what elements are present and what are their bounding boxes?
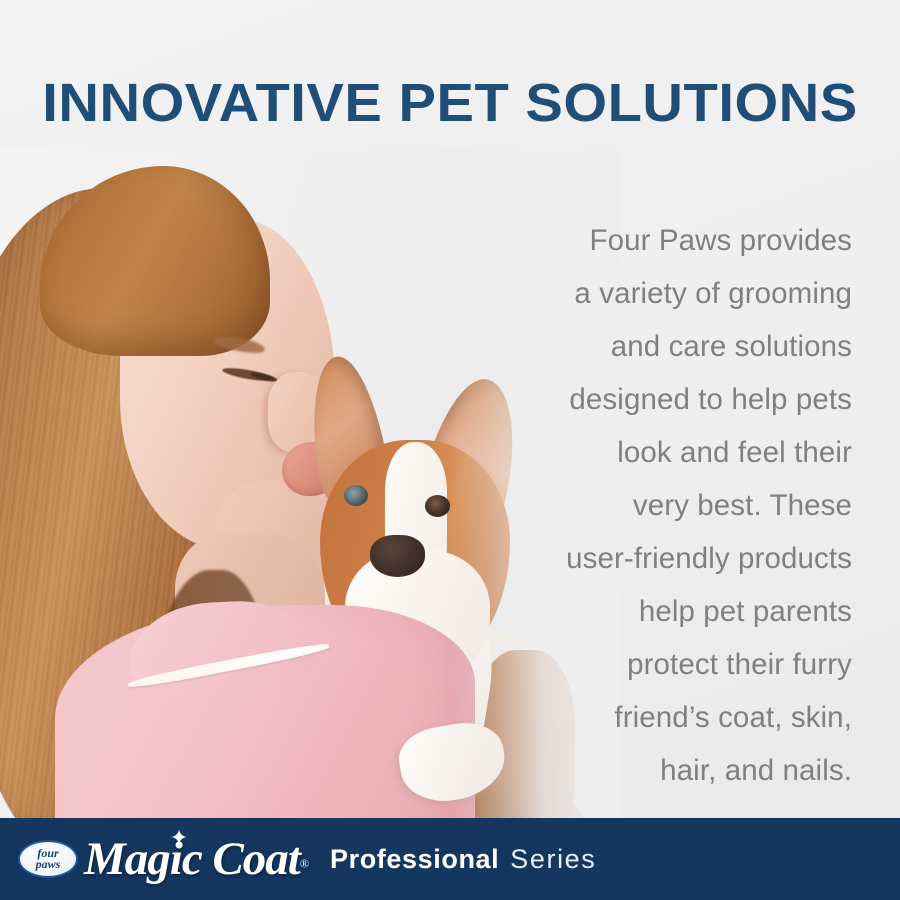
series-label: Series — [510, 844, 596, 875]
dog-eye-left — [344, 485, 368, 506]
magic-coat-wordmark-wrap: ✦ Magic Coat® — [84, 836, 308, 883]
hero-photo — [0, 150, 620, 820]
sparkle-icon: ✦ — [168, 827, 190, 849]
registered-trademark-mark: ® — [300, 856, 308, 870]
dog-nose — [370, 535, 425, 577]
body-copy: Four Paws provides a variety of grooming… — [532, 214, 852, 797]
professional-label: Professional — [330, 844, 499, 875]
page-title: INNOVATIVE PET SOLUTIONS — [0, 72, 900, 134]
four-paws-logo-line2: paws — [36, 859, 61, 870]
magic-coat-wordmark: Magic Coat — [84, 833, 300, 885]
brand-bar: four paws ✦ Magic Coat® Professional Ser… — [0, 818, 900, 900]
ad-creative: INNOVATIVE PET SOLUTIONS — [0, 0, 900, 900]
four-paws-logo-badge: four paws — [18, 840, 78, 878]
dog-eye-right — [425, 495, 450, 517]
